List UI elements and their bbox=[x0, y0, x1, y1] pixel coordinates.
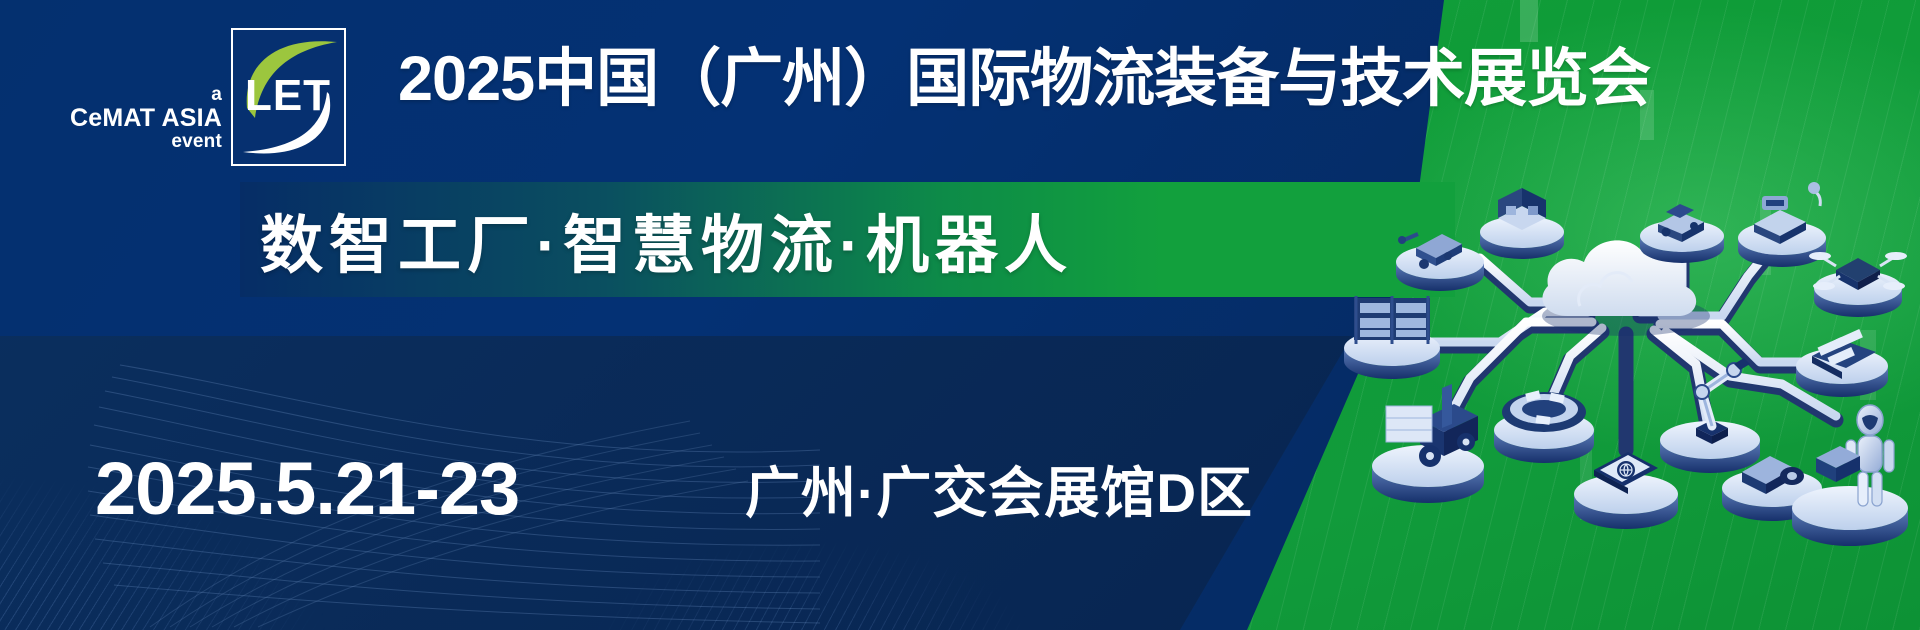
event-venue: 广州·广交会展馆D区 bbox=[745, 466, 1253, 521]
let-logo-mark: LET bbox=[231, 28, 346, 166]
affiliation-a-label: a bbox=[211, 85, 222, 105]
let-cemat-logo[interactable]: a CeMAT ASIA event LET bbox=[70, 26, 346, 166]
event-date: 2025.5.21-23 bbox=[95, 452, 519, 526]
affiliation-event-label: event bbox=[171, 132, 222, 152]
affiliation-name-label: CeMAT ASIA bbox=[70, 105, 222, 132]
cemat-asia-affiliation: a CeMAT ASIA event bbox=[70, 85, 222, 166]
svg-text:LET: LET bbox=[245, 71, 331, 120]
banner-headline: 2025中国（广州）国际物流装备与技术展览会 bbox=[398, 48, 1650, 111]
exhibition-banner: a CeMAT ASIA event LET 2025中国（广州）国际物流装备与… bbox=[0, 0, 1920, 630]
banner-subtitle: 数智工厂·智慧物流·机器人 bbox=[260, 190, 1440, 290]
